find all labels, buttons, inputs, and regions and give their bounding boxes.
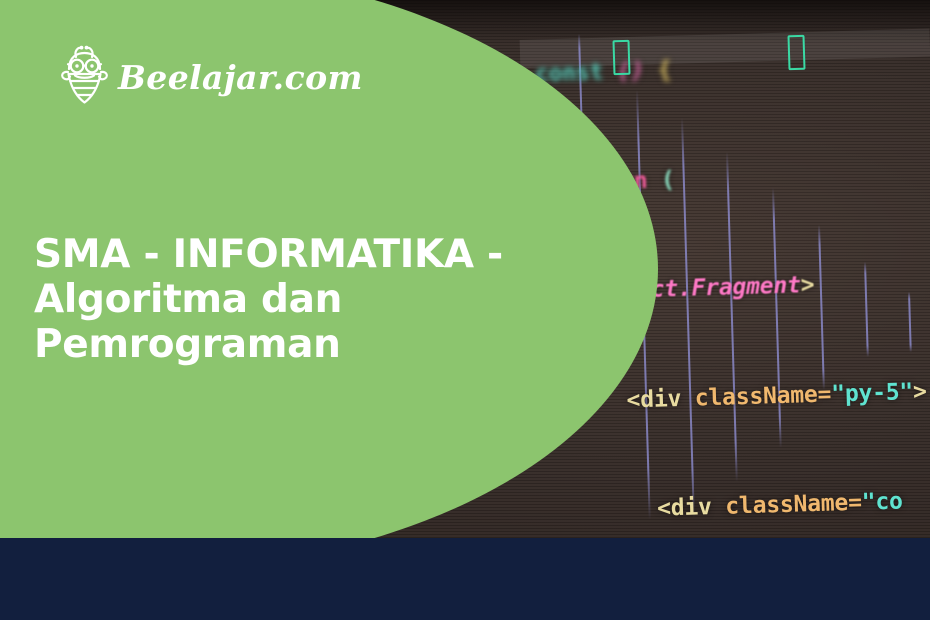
brand-wordmark: Beelajar.com: [118, 61, 363, 94]
code-line: <div className="co: [520, 476, 930, 531]
bracket-match-close-icon: [787, 35, 805, 70]
brand-logo[interactable]: Beelajar.com: [56, 44, 363, 104]
bee-with-glasses-icon: [56, 44, 114, 104]
code-line: const () {: [507, 38, 930, 93]
promo-banner: const () { return ( <React.Fragment> <di…: [0, 0, 930, 620]
page-title: SMA - INFORMATIKA - Algoritma dan Pemrog…: [34, 232, 534, 367]
bracket-match-open-icon: [612, 40, 630, 75]
footer-band: [0, 538, 930, 620]
hero-section: const () { return ( <React.Fragment> <di…: [0, 0, 930, 538]
